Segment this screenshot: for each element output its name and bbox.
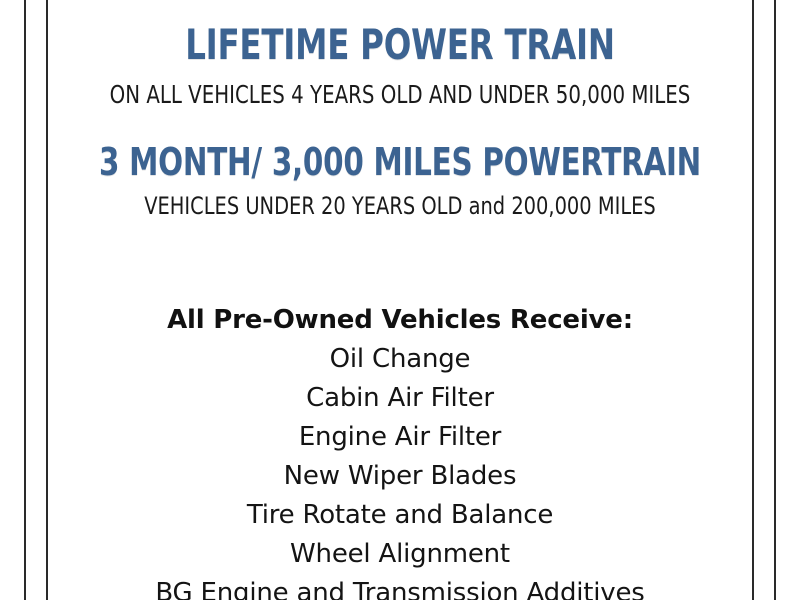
list-item: Oil Change xyxy=(48,340,752,379)
list-item: New Wiper Blades xyxy=(48,457,752,496)
poster-content: LIFETIME POWER TRAIN ON ALL VEHICLES 4 Y… xyxy=(48,0,752,600)
list-item: BG Engine and Transmission Additives xyxy=(48,574,752,600)
list-item: Engine Air Filter xyxy=(48,418,752,457)
offer-subhead-3-month-powertrain: VEHICLES UNDER 20 YEARS OLD and 200,000 … xyxy=(83,194,717,218)
services-list: All Pre-Owned Vehicles Receive: Oil Chan… xyxy=(48,301,752,600)
services-list-heading: All Pre-Owned Vehicles Receive: xyxy=(48,301,752,340)
list-item: Cabin Air Filter xyxy=(48,379,752,418)
list-item: Wheel Alignment xyxy=(48,535,752,574)
offer-headline-lifetime-power-train: LIFETIME POWER TRAIN xyxy=(97,24,702,66)
border-rule-right-outer xyxy=(774,0,776,600)
offer-subhead-lifetime-power-train: ON ALL VEHICLES 4 YEARS OLD AND UNDER 50… xyxy=(90,82,710,107)
border-rule-left-outer xyxy=(24,0,26,600)
border-rule-right-inner xyxy=(752,0,754,600)
warranty-services-poster: LIFETIME POWER TRAIN ON ALL VEHICLES 4 Y… xyxy=(0,0,800,600)
offer-headline-3-month-powertrain: 3 MONTH/ 3,000 MILES POWERTRAIN xyxy=(97,143,702,181)
list-item: Tire Rotate and Balance xyxy=(48,496,752,535)
